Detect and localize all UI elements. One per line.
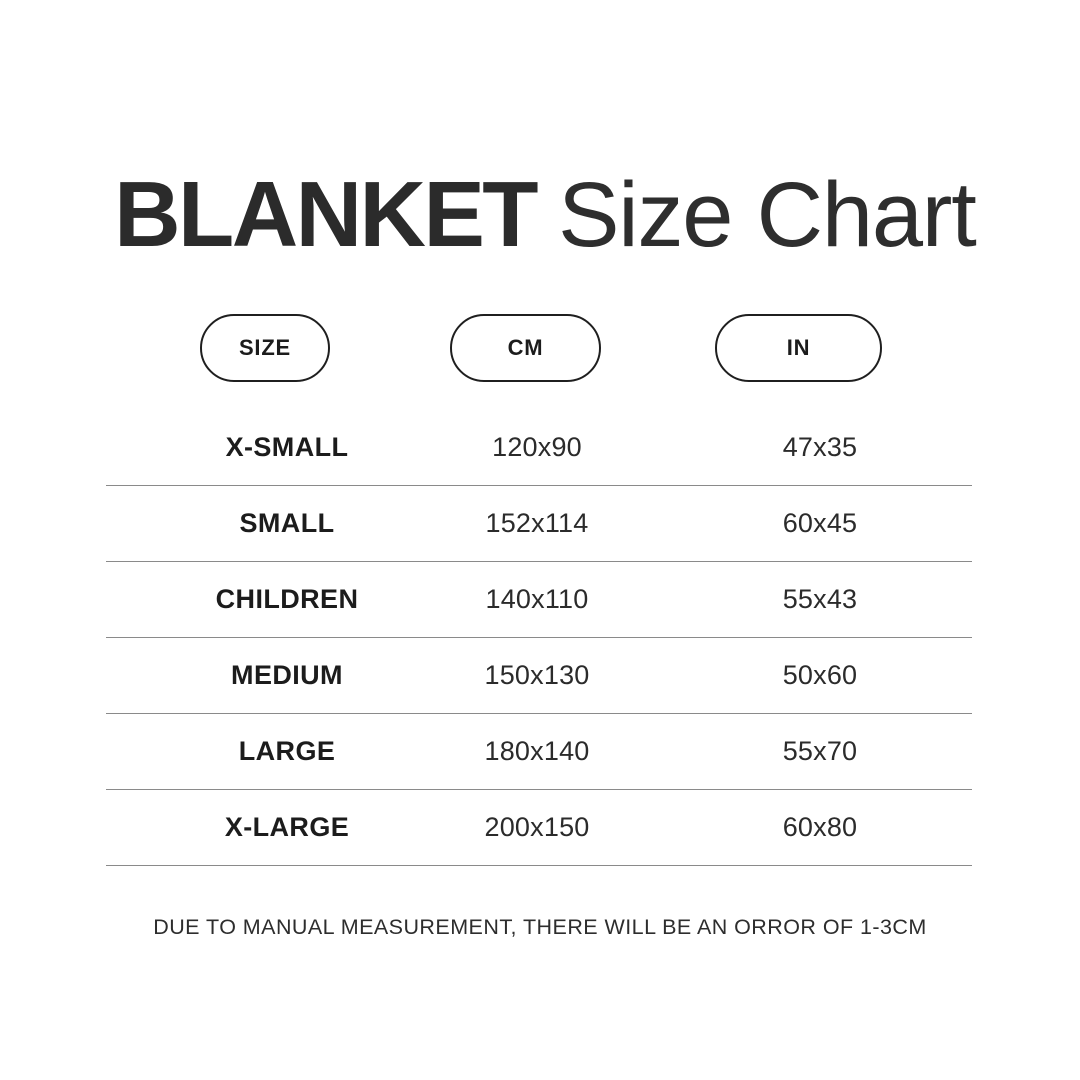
- table-row: LARGE 180x140 55x70: [106, 714, 972, 790]
- cell-cm: 200x150: [437, 790, 637, 865]
- cell-size: LARGE: [106, 714, 468, 789]
- cell-cm-value: 152x114: [486, 508, 589, 539]
- cell-size: MEDIUM: [106, 638, 468, 713]
- column-header-size: SIZE: [200, 314, 330, 382]
- table-header-row: SIZE CM IN: [0, 314, 1080, 384]
- cell-in-value: 55x43: [783, 584, 858, 615]
- cell-cm-value: 140x110: [486, 584, 589, 615]
- cell-size: X-SMALL: [106, 410, 468, 485]
- cell-in: 55x70: [668, 714, 972, 789]
- cell-size: SMALL: [106, 486, 468, 561]
- size-chart-page: BLANKET Size Chart SIZE CM IN X-SMALL 12…: [0, 0, 1080, 1080]
- cell-size-label: CHILDREN: [216, 584, 359, 615]
- cell-size-label: LARGE: [239, 736, 336, 767]
- cell-cm-value: 120x90: [492, 432, 582, 463]
- cell-cm: 180x140: [437, 714, 637, 789]
- page-title: BLANKET Size Chart: [112, 168, 1012, 264]
- cell-size-label: SMALL: [240, 508, 335, 539]
- table-row: X-LARGE 200x150 60x80: [106, 790, 972, 866]
- cell-cm: 152x114: [437, 486, 637, 561]
- cell-in-value: 60x80: [783, 812, 858, 843]
- cell-cm-value: 150x130: [485, 660, 590, 691]
- cell-in: 55x43: [668, 562, 972, 637]
- cell-in-value: 60x45: [783, 508, 858, 539]
- cell-cm: 150x130: [437, 638, 637, 713]
- column-header-in: IN: [715, 314, 882, 382]
- cell-size-label: X-LARGE: [225, 812, 349, 843]
- cell-in: 60x80: [668, 790, 972, 865]
- measurement-disclaimer: DUE TO MANUAL MEASUREMENT, THERE WILL BE…: [0, 915, 1080, 940]
- table-row: SMALL 152x114 60x45: [106, 486, 972, 562]
- cell-size: CHILDREN: [106, 562, 468, 637]
- cell-in: 47x35: [668, 410, 972, 485]
- cell-cm-value: 200x150: [485, 812, 590, 843]
- cell-cm: 140x110: [437, 562, 637, 637]
- cell-size: X-LARGE: [106, 790, 468, 865]
- cell-in-value: 47x35: [783, 432, 858, 463]
- table-row: X-SMALL 120x90 47x35: [106, 410, 972, 486]
- table-row: MEDIUM 150x130 50x60: [106, 638, 972, 714]
- page-title-suffix: Size Chart: [558, 169, 976, 261]
- column-header-cm: CM: [450, 314, 601, 382]
- page-title-product: BLANKET: [114, 168, 536, 261]
- cell-size-label: MEDIUM: [231, 660, 343, 691]
- cell-in: 50x60: [668, 638, 972, 713]
- cell-cm-value: 180x140: [485, 736, 590, 767]
- cell-in-value: 50x60: [783, 660, 858, 691]
- cell-in: 60x45: [668, 486, 972, 561]
- cell-size-label: X-SMALL: [226, 432, 349, 463]
- cell-cm: 120x90: [437, 410, 637, 485]
- size-table: X-SMALL 120x90 47x35 SMALL 152x114 60x45…: [106, 410, 972, 866]
- table-row: CHILDREN 140x110 55x43: [106, 562, 972, 638]
- cell-in-value: 55x70: [783, 736, 858, 767]
